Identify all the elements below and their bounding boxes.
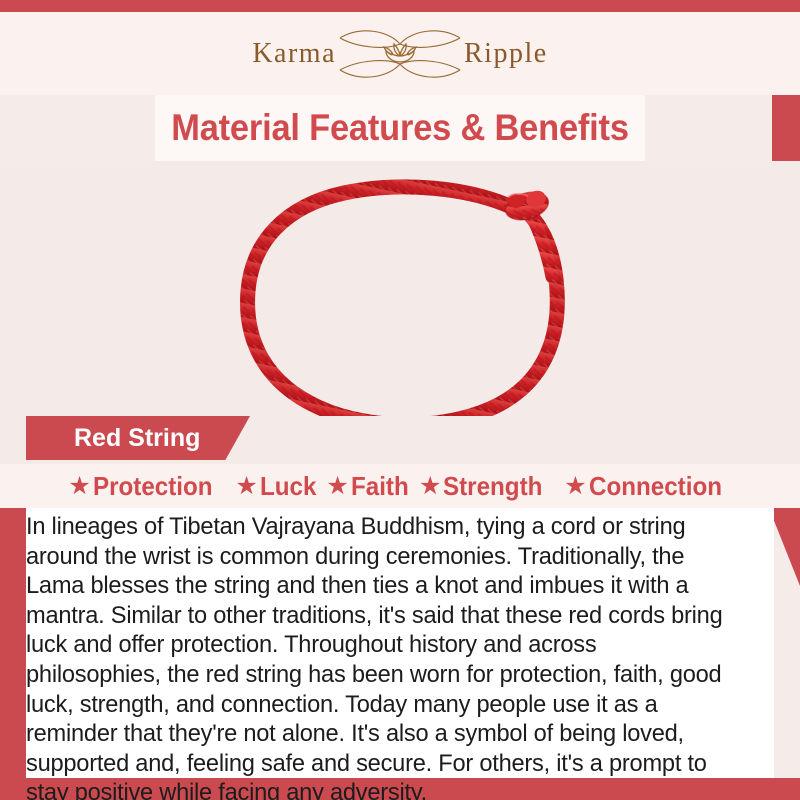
feature-item-faith: ★ Faith [326, 471, 413, 502]
feature-label-connection: Connection [589, 471, 722, 502]
red-string-bracelet-image [0, 161, 800, 416]
star-icon: ★ [419, 474, 441, 499]
description-text: In lineages of Tibetan Vajrayana Buddhis… [26, 512, 748, 800]
header-band [0, 12, 800, 95]
page-title: Material Features & Benefits [171, 107, 629, 149]
infographic-page: Karma Ripple Material Features & Benefit… [0, 0, 800, 800]
star-icon: ★ [68, 474, 90, 499]
feature-item-connection: ★ Connection [564, 471, 731, 502]
feature-item-luck: ★ Luck [235, 471, 320, 502]
bracelet-sliding-knot [502, 187, 551, 224]
product-image-area [0, 161, 800, 416]
bracelet-cord-shading [248, 187, 558, 416]
features-row: ★ Protection ★ Luck ★ Faith ★ Strength ★… [0, 464, 800, 508]
feature-label-protection: Protection [93, 471, 213, 502]
bracelet-cord-tail [530, 213, 552, 277]
material-label: Red String [26, 424, 200, 453]
star-icon: ★ [235, 474, 257, 499]
material-label-banner: Red String [26, 416, 250, 460]
title-banner: Material Features & Benefits [155, 95, 645, 161]
star-icon: ★ [564, 474, 586, 499]
feature-item-strength: ★ Strength [419, 471, 550, 502]
frame-top-bar [0, 0, 800, 12]
feature-label-luck: Luck [260, 471, 316, 502]
star-icon: ★ [326, 474, 348, 499]
feature-label-strength: Strength [443, 471, 542, 502]
description-panel: In lineages of Tibetan Vajrayana Buddhis… [26, 508, 774, 778]
feature-item-protection: ★ Protection [68, 471, 221, 502]
feature-label-faith: Faith [351, 471, 409, 502]
